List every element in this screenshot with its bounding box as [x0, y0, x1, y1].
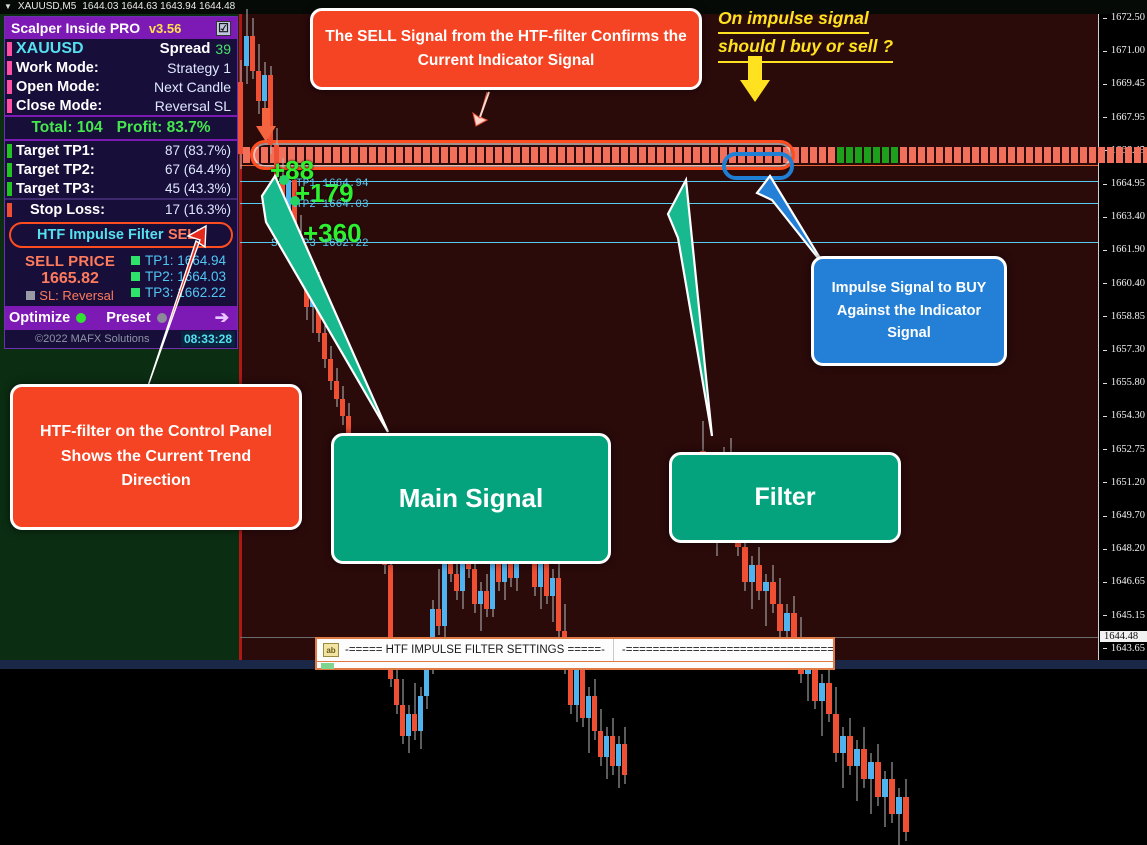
candle	[777, 578, 783, 639]
question-line-1: On impulse signal	[718, 6, 869, 34]
htf-cell-sell	[927, 147, 934, 163]
stop-loss-row: Stop Loss: 17 (16.3%)	[5, 200, 237, 219]
close-mode-label: Close Mode:	[16, 98, 102, 114]
candle	[896, 788, 902, 845]
price-tick: 1664.95	[1111, 178, 1145, 189]
candle	[406, 705, 411, 753]
tp1-marker	[7, 144, 12, 158]
htf-cell-sell	[1116, 147, 1123, 163]
candle-body	[826, 683, 832, 714]
tp2-marker	[131, 272, 140, 281]
htf-cell-sell	[1125, 147, 1132, 163]
totals-row: Total: 104 Profit: 83.7%	[5, 117, 237, 139]
panel-enable-checkbox[interactable]: ☑	[216, 21, 231, 36]
panel-title-text: Scalper Inside PRO	[11, 20, 140, 36]
settings-column-divider	[613, 639, 614, 661]
candle	[478, 582, 483, 630]
tp1-signal-dot	[279, 175, 289, 185]
candle	[610, 718, 615, 775]
price-axis-background	[1098, 0, 1147, 669]
callout-htf-control: HTF-filter on the Control Panel Shows th…	[10, 384, 302, 530]
tp3-marker	[131, 288, 140, 297]
current-price-tag: 1644.48	[1100, 631, 1147, 642]
candle-body	[262, 75, 267, 101]
candle-body	[436, 609, 441, 626]
candle	[622, 727, 627, 784]
candle	[484, 574, 489, 618]
candle-body	[406, 714, 411, 736]
scalper-inside-pro-panel[interactable]: Scalper Inside PRO v3.56 ☑ XAUUSD Spread…	[4, 16, 238, 349]
target-tp1-value: 87 (83.7%)	[165, 143, 237, 158]
candle-body	[903, 797, 909, 832]
panel-tp1-text: TP1: 1664.94	[145, 253, 226, 268]
bool-object-icon	[321, 663, 334, 669]
candle	[256, 44, 261, 114]
htf-cell-sell	[972, 147, 979, 163]
htf-cell-buy	[891, 147, 898, 163]
candle	[854, 740, 860, 801]
row-marker	[7, 80, 12, 94]
price-block: SELL PRICE 1665.82 SL: Reversal TP1: 166…	[5, 251, 237, 306]
htf-cell-sell	[1134, 147, 1141, 163]
candle-body	[756, 565, 762, 591]
htf-cell-sell	[819, 147, 826, 163]
optimize-button[interactable]: Optimize	[9, 310, 70, 326]
panel-footer: ©2022 MAFX Solutions 08:33:28	[5, 330, 237, 348]
candle-body	[861, 749, 867, 780]
candle	[418, 687, 423, 748]
candle	[556, 561, 561, 640]
price-tick: 1646.65	[1111, 576, 1145, 587]
callout-sell-confirm: The SELL Signal from the HTF-filter Conf…	[310, 8, 702, 90]
callout-main-signal: Main Signal	[331, 433, 611, 564]
candle	[868, 753, 874, 814]
candle-body	[268, 75, 273, 145]
panel-tp3-text: TP3: 1662.22	[145, 285, 226, 300]
target-tp2-row: Target TP2: 67 (64.4%)	[5, 160, 237, 179]
htf-cell-sell	[1143, 147, 1147, 163]
candle	[316, 272, 321, 342]
candle-body	[598, 731, 603, 757]
tp3-chart-label: TP3 1662.22	[296, 238, 369, 250]
candle-body	[244, 36, 249, 67]
chart-ohlc-values: 1644.03 1644.63 1643.94 1644.48	[82, 0, 235, 14]
htf-cell-sell	[1044, 147, 1051, 163]
row-marker	[7, 42, 12, 56]
price-tick: 1672.50	[1111, 12, 1145, 23]
candle-body	[484, 591, 489, 608]
chart-dropdown-caret[interactable]: ▼	[4, 0, 12, 14]
candle	[819, 674, 825, 735]
stoploss-marker	[7, 203, 12, 217]
candle	[436, 569, 441, 635]
candle-body	[742, 547, 748, 582]
htf-cell-sell	[963, 147, 970, 163]
candle-body	[556, 578, 561, 630]
price-tick: 1671.00	[1111, 45, 1145, 56]
tp3-level-line	[240, 242, 1098, 243]
htf-cell-buy	[837, 147, 844, 163]
price-tick: 1651.20	[1111, 477, 1145, 488]
candle-body	[568, 666, 573, 705]
panel-action-bar[interactable]: Optimize Preset ➔	[5, 306, 237, 330]
htf-cell-sell	[1071, 147, 1078, 163]
price-tick: 1645.15	[1111, 610, 1145, 621]
work-mode-value[interactable]: Strategy 1	[167, 60, 237, 76]
price-tick: 1655.80	[1111, 377, 1145, 388]
candle-body	[604, 736, 609, 758]
htf-cell-sell	[828, 147, 835, 163]
htf-cell-sell	[954, 147, 961, 163]
candle-body	[616, 744, 621, 766]
htf-cell-buy	[855, 147, 862, 163]
price-tick: 1669.45	[1111, 78, 1145, 89]
open-mode-row[interactable]: Open Mode: Next Candle	[5, 77, 237, 96]
row-marker	[7, 99, 12, 113]
candle-body	[763, 582, 769, 591]
panel-tp1: TP1: 1664.94	[131, 253, 233, 268]
candle	[604, 727, 609, 779]
tp3-marker	[7, 182, 12, 196]
price-tick: 1652.75	[1111, 444, 1145, 455]
next-arrow-icon[interactable]: ➔	[215, 308, 233, 328]
candle	[616, 736, 621, 788]
candle	[238, 60, 243, 169]
htf-cell-sell	[918, 147, 925, 163]
panel-copyright: ©2022 MAFX Solutions	[7, 333, 150, 345]
candle	[826, 661, 832, 722]
candle	[412, 683, 417, 740]
htf-cell-sell	[1089, 147, 1096, 163]
candle-body	[749, 565, 755, 582]
htf-impulse-filter-state: SELL	[168, 227, 205, 243]
panel-symbol: XAUUSD	[16, 40, 84, 58]
candle	[875, 744, 881, 805]
target-tp2-value: 67 (64.4%)	[165, 162, 237, 177]
panel-clock: 08:33:28	[181, 331, 235, 347]
stop-loss-label: Stop Loss:	[30, 202, 105, 218]
candle-body	[412, 714, 417, 731]
candle	[882, 771, 888, 828]
candle	[262, 62, 267, 132]
callout-filter: Filter	[669, 452, 901, 543]
panel-tp2: TP2: 1664.03	[131, 269, 233, 284]
candle-body	[418, 696, 423, 731]
candle-body	[610, 736, 615, 767]
candle	[598, 709, 603, 766]
candle-body	[478, 591, 483, 604]
candle-body	[328, 359, 333, 381]
candle-body	[622, 744, 627, 775]
candle	[340, 386, 345, 425]
candle-body	[322, 333, 327, 359]
htf-cell-sell	[999, 147, 1006, 163]
htf-cell-sell	[810, 147, 817, 163]
candle-body	[586, 696, 591, 718]
close-mode-value[interactable]: Reversal SL	[155, 98, 237, 114]
candle-body	[304, 268, 309, 307]
candle-body	[472, 569, 477, 604]
candle-body	[854, 749, 860, 766]
htf-cell-sell	[1107, 147, 1114, 163]
sl-text: SL: Reversal	[39, 288, 113, 303]
price-tick: 1658.85	[1111, 311, 1145, 322]
target-tp3-row: Target TP3: 45 (43.3%)	[5, 179, 237, 198]
candle-body	[875, 762, 881, 797]
tp3-signal-dot	[293, 235, 303, 245]
candle	[847, 718, 853, 775]
price-tick: 1649.70	[1111, 510, 1145, 521]
candle-body	[238, 82, 243, 154]
panel-title-bar: Scalper Inside PRO v3.56 ☑	[5, 17, 237, 39]
tp2-chart-label: TP2 1664.03	[296, 199, 369, 211]
candle-body	[400, 705, 405, 736]
htf-cell-sell	[1080, 147, 1087, 163]
candle-body	[833, 714, 839, 753]
candle	[244, 9, 249, 83]
work-mode-label: Work Mode:	[16, 60, 99, 76]
candle-body	[770, 582, 776, 604]
chart-symbol-timeframe: XAUUSD,M5	[18, 0, 76, 14]
candle	[586, 687, 591, 753]
candle-wick	[414, 683, 415, 740]
htf-cell-buy	[846, 147, 853, 163]
candle	[840, 727, 846, 788]
candle-body	[340, 399, 345, 416]
highlight-impulse-buy-oval	[722, 152, 794, 180]
candle-body	[250, 36, 255, 71]
preset-led-icon	[157, 313, 167, 323]
open-mode-value[interactable]: Next Candle	[154, 79, 237, 95]
total-profit: Profit: 83.7%	[117, 119, 211, 137]
htf-cell-sell	[936, 147, 943, 163]
candle	[763, 574, 769, 626]
candle	[328, 346, 333, 390]
sell-price-label: SELL PRICE	[9, 253, 131, 270]
open-mode-label: Open Mode:	[16, 79, 100, 95]
candle	[889, 762, 895, 823]
candle-body	[310, 285, 315, 307]
spread-value: 39	[215, 41, 231, 57]
panel-version: v3.56	[149, 21, 182, 36]
htf-cell-sell	[1062, 147, 1069, 163]
candle-body	[592, 696, 597, 731]
candle-body	[334, 381, 339, 398]
htf-cell-buy	[882, 147, 889, 163]
total-trades: Total: 104	[31, 119, 102, 137]
price-tick: 1663.40	[1111, 211, 1145, 222]
preset-button[interactable]: Preset	[106, 310, 150, 326]
candle	[400, 679, 405, 745]
htf-cell-sell	[900, 147, 907, 163]
candle	[749, 556, 755, 608]
htf-cell-sell	[801, 147, 808, 163]
stop-loss-value: 17 (16.3%)	[165, 202, 237, 217]
htf-settings-value: -==================================-	[622, 644, 833, 656]
candle-body	[889, 779, 895, 814]
candle	[861, 727, 867, 788]
htf-cell-sell	[1026, 147, 1033, 163]
htf-cell-sell	[243, 147, 250, 163]
candle-body	[882, 779, 888, 796]
htf-cell-sell	[1053, 147, 1060, 163]
htf-cell-sell	[1017, 147, 1024, 163]
symbol-row: XAUUSD Spread 39	[5, 39, 237, 58]
tp2-marker	[7, 163, 12, 177]
candle-body	[868, 762, 874, 779]
htf-cell-sell	[909, 147, 916, 163]
candle	[592, 679, 597, 740]
target-tp2-label: Target TP2:	[16, 162, 95, 178]
candle	[322, 316, 327, 368]
candle-body	[460, 561, 465, 592]
htf-cell-buy	[873, 147, 880, 163]
tp2-signal-dot	[290, 196, 300, 206]
candle-body	[777, 604, 783, 630]
htf-impulse-filter-box[interactable]: HTF Impulse Filter SELL	[9, 222, 233, 248]
candle-body	[819, 683, 825, 700]
htf-cell-sell	[981, 147, 988, 163]
candle-body	[394, 679, 399, 705]
price-tick: 1654.30	[1111, 410, 1145, 421]
price-tick: 1657.30	[1111, 344, 1145, 355]
htf-cell-buy	[864, 147, 871, 163]
spread-label: Spread	[160, 40, 211, 57]
row-marker	[7, 61, 12, 75]
target-tp1-row: Target TP1: 87 (83.7%)	[5, 141, 237, 160]
candle-body	[316, 285, 321, 333]
price-tick: 1661.90	[1111, 244, 1145, 255]
highlight-sell-region-oval	[250, 140, 795, 170]
htf-cell-sell	[1035, 147, 1042, 163]
candle	[903, 779, 909, 840]
candle	[310, 276, 315, 333]
sell-price-value: 1665.82	[9, 270, 131, 288]
candle-body	[847, 736, 853, 767]
htf-cell-sell	[1008, 147, 1015, 163]
close-mode-row[interactable]: Close Mode: Reversal SL	[5, 96, 237, 115]
question-line-2: should I buy or sell ?	[718, 34, 893, 62]
tp1-marker	[131, 256, 140, 265]
candle	[268, 66, 273, 153]
candle	[833, 687, 839, 761]
price-axis-rule	[1098, 0, 1099, 669]
candle-body	[550, 578, 555, 595]
candle	[304, 246, 309, 320]
panel-tp3: TP3: 1662.22	[131, 285, 233, 300]
htf-settings-row[interactable]: ab -===== HTF IMPULSE FILTER SETTINGS ==…	[315, 637, 835, 663]
tp1-chart-label: TP1 1664.94	[296, 178, 369, 190]
candle-body	[896, 797, 902, 814]
target-tp1-label: Target TP1:	[16, 143, 95, 159]
target-tp3-label: Target TP3:	[16, 181, 95, 197]
candle	[756, 547, 762, 599]
sell-price-block: SELL PRICE 1665.82 SL: Reversal	[9, 253, 131, 303]
candle	[550, 569, 555, 621]
candle-body	[256, 71, 261, 102]
callout-impulse-buy: Impulse Signal to BUY Against the Indica…	[811, 256, 1007, 366]
price-tick: 1643.65	[1111, 643, 1145, 654]
work-mode-row[interactable]: Work Mode: Strategy 1	[5, 58, 237, 77]
candle-body	[840, 736, 846, 753]
candle-body	[784, 613, 790, 630]
tp2-level-line	[240, 203, 1098, 204]
htf-cell-sell	[990, 147, 997, 163]
candle-body	[574, 666, 579, 705]
sl-row: SL: Reversal	[9, 288, 131, 303]
htf-settings-title: -===== HTF IMPULSE FILTER SETTINGS =====…	[345, 644, 605, 656]
price-tick: 1648.20	[1111, 543, 1145, 554]
price-tick: 1660.40	[1111, 278, 1145, 289]
htf-cell-sell	[945, 147, 952, 163]
sl-marker	[26, 291, 35, 300]
candle-body	[454, 574, 459, 591]
candle-body	[580, 666, 585, 718]
candle	[250, 18, 255, 79]
callout-question: On impulse signal should I buy or sell ?	[718, 6, 893, 63]
optimize-led-icon	[76, 313, 86, 323]
panel-tp2-text: TP2: 1664.03	[145, 269, 226, 284]
candle	[334, 368, 339, 407]
htf-cell-sell	[1098, 147, 1105, 163]
text-object-icon: ab	[323, 643, 339, 657]
target-tp3-value: 45 (43.3%)	[165, 181, 237, 196]
candle-wick	[480, 582, 481, 630]
tp-list: TP1: 1664.94 TP2: 1664.03 TP3: 1662.22	[131, 253, 233, 303]
candle	[770, 565, 776, 613]
htf-impulse-filter-label: HTF Impulse Filter	[37, 227, 164, 243]
price-tick: 1667.95	[1111, 112, 1145, 123]
